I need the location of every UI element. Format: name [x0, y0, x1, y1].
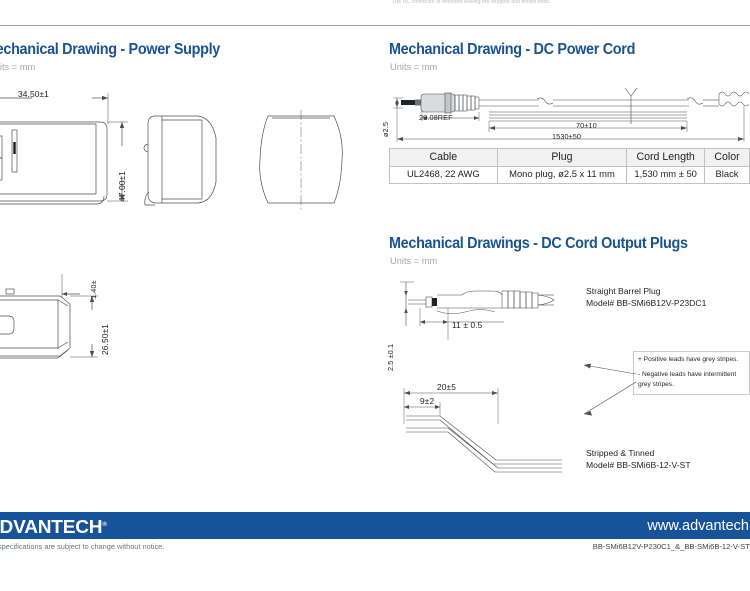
dim-70-10: 70±10	[576, 121, 597, 130]
footer-band	[0, 512, 750, 539]
drawing-straight-barrel-plug	[392, 274, 582, 344]
dim-9-2: 9±2	[420, 396, 434, 406]
dim-29-08-ref: 29.08REF	[419, 113, 453, 122]
website-link[interactable]: www.advantech.	[647, 518, 750, 534]
section-title-power-supply: Mechanical Drawing - Power Supply	[0, 41, 220, 59]
section-units-dc-cord-output-plugs: Units = mm	[390, 256, 437, 266]
advantech-logo: ADVANTECH®	[0, 516, 107, 538]
drawing-stripped-tinned	[392, 376, 592, 486]
note-positive-leads: + Positive leads have grey stripes.	[638, 355, 745, 365]
table-row: UL2468, 22 AWG Mono plug, ø2.5 x 11 mm 1…	[390, 167, 750, 184]
table-header-length: Cord Length	[627, 149, 705, 167]
registered-mark: ®	[102, 522, 106, 528]
dim-11-tolerance: 11 ± 0.5	[452, 320, 482, 330]
drawing-power-supply-front-view	[258, 100, 368, 218]
leads-notes-box: + Positive leads have grey stripes. - Ne…	[633, 351, 750, 395]
plug-name-stripped-tinned: Stripped & Tinned	[586, 447, 691, 459]
footer-document-id: BB-SMi6B12V-P230C1_&_BB-SMi6B-12-V-ST_	[593, 542, 750, 551]
cell-plug: Mono plug, ø2.5 x 11 mm	[497, 167, 627, 184]
datasheet-page: The DC connector is removed leaving the …	[0, 0, 750, 591]
dim-1-40: 1.40±	[89, 280, 98, 299]
footer-disclaimer: uct specifications are subject to change…	[0, 542, 164, 551]
top-cutoff-note: The DC connector is removed leaving the …	[392, 0, 732, 5]
cell-length: 1,530 mm ± 50	[627, 167, 705, 184]
dc-cord-spec-table: Cable Plug Cord Length Color UL2468, 22 …	[389, 148, 750, 184]
section-title-dc-cord-output-plugs: Mechanical Drawings - DC Cord Output Plu…	[389, 235, 688, 253]
dim-diameter-2-5: ø2.5	[381, 122, 390, 137]
plug-label-stripped-tinned: Stripped & Tinned Model# BB-SMi6B-12-V-S…	[586, 447, 691, 471]
note-negative-leads: - Negative leads have intermittent grey …	[638, 370, 745, 390]
section-title-dc-power-cord: Mechanical Drawing - DC Power Cord	[389, 41, 635, 59]
dim-34-50: 34.50±1	[18, 89, 49, 99]
plug-model-stripped-tinned: Model# BB-SMi6B-12-V-ST	[586, 459, 691, 471]
dim-2-5-tolerance: 2.5 ±0.1	[386, 344, 395, 371]
dim-26-50: 26.50±1	[100, 324, 110, 355]
dim-1530-50: 1530±50	[552, 132, 581, 141]
plug-model-straight-barrel: Model# BB-SMi6B12V-P23DC1	[586, 297, 706, 309]
drawing-power-supply-bottom-view	[0, 262, 170, 372]
section-units-dc-power-cord: Units = mm	[390, 62, 437, 72]
plug-label-straight-barrel: Straight Barrel Plug Model# BB-SMi6B12V-…	[586, 285, 706, 309]
header-divider	[0, 25, 750, 26]
cell-color: Black	[705, 167, 750, 184]
plug-name-straight-barrel: Straight Barrel Plug	[586, 285, 706, 297]
table-header-plug: Plug	[497, 149, 627, 167]
dim-47-00: 47.00±1	[117, 171, 127, 202]
cell-cable: UL2468, 22 AWG	[390, 167, 498, 184]
drawing-power-supply-side-view	[140, 100, 250, 218]
brand-wordmark: ADVANTECH	[0, 516, 102, 537]
table-header-row: Cable Plug Cord Length Color	[390, 149, 750, 167]
dim-20-5: 20±5	[437, 382, 456, 392]
section-units-power-supply: Units = mm	[0, 62, 35, 72]
table-header-color: Color	[705, 149, 750, 167]
table-header-cable: Cable	[390, 149, 498, 167]
